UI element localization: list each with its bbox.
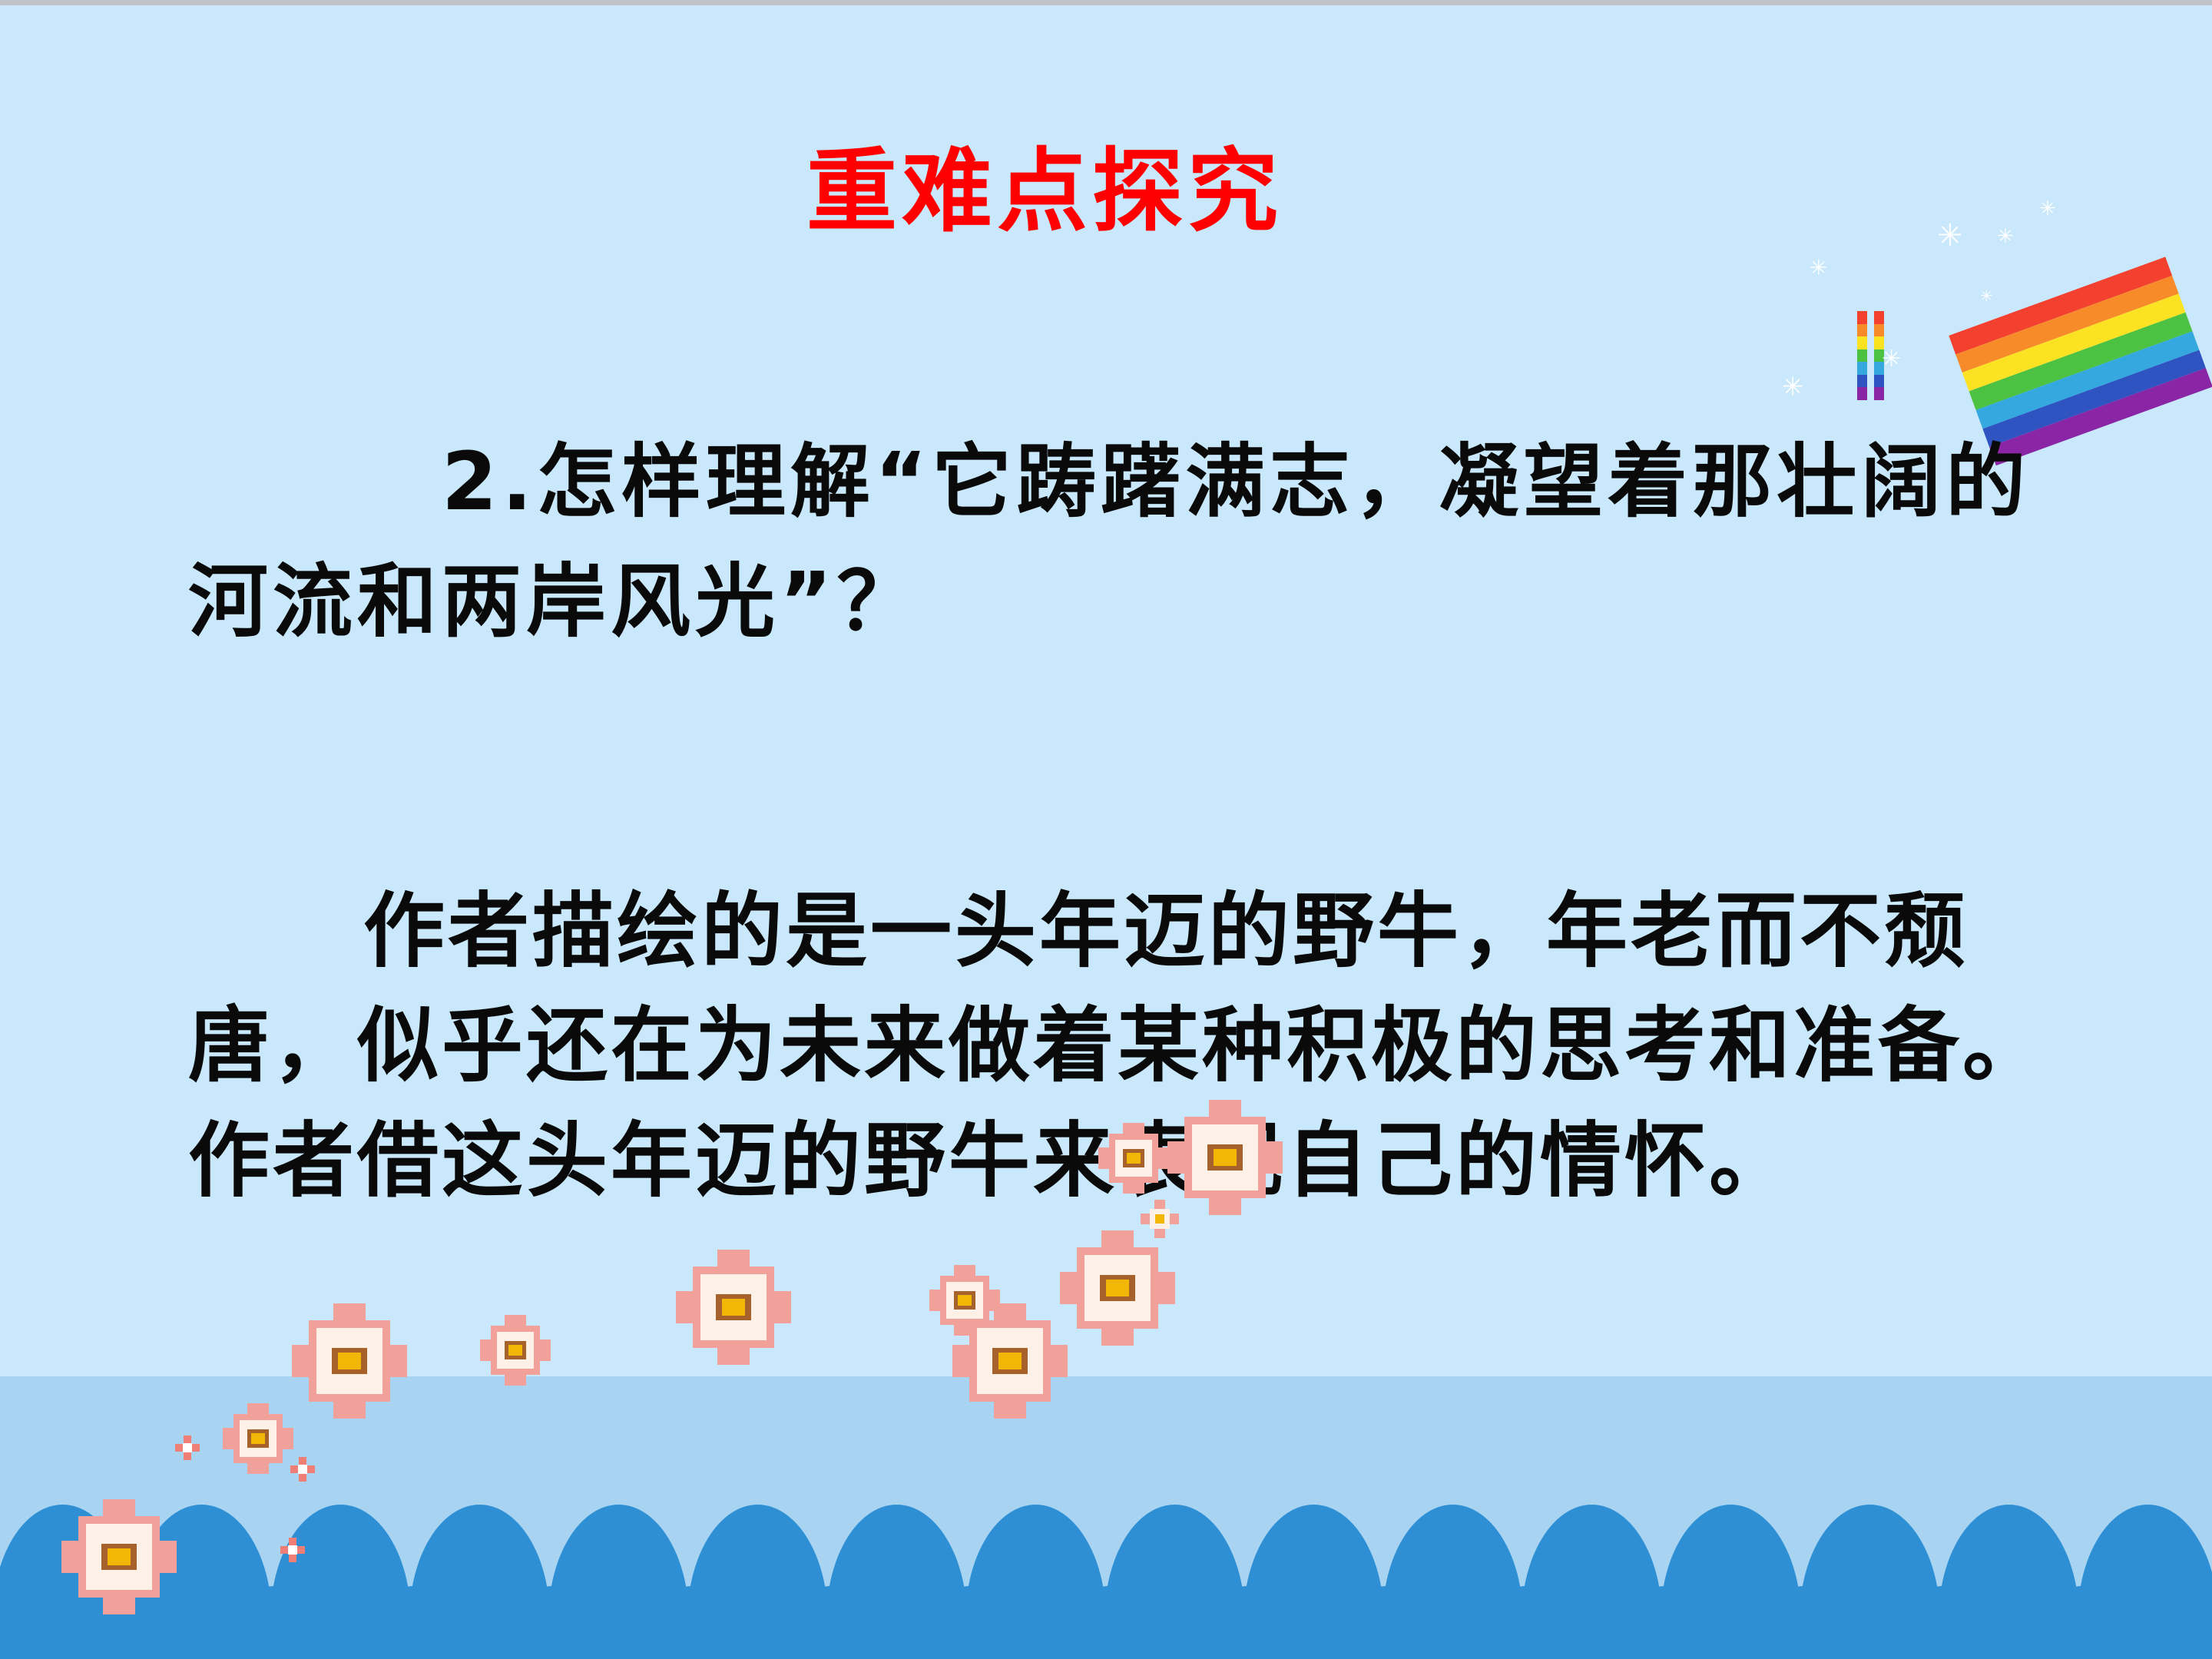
scallop-shape bbox=[622, 1586, 763, 1659]
scallop-shape bbox=[2012, 1586, 2153, 1659]
rainbow-bar-icon bbox=[1857, 311, 1867, 400]
cherry-blossom-icon bbox=[175, 1435, 200, 1460]
scallop-shape bbox=[900, 1586, 1041, 1659]
scallop-shape bbox=[761, 1586, 902, 1659]
cherry-blossom-icon bbox=[61, 1499, 177, 1614]
sparkle-icon: ✳ bbox=[2039, 199, 2056, 219]
scallop-shape bbox=[1595, 1586, 1736, 1659]
scallop-shape bbox=[0, 1586, 68, 1659]
scallop-row-bottom bbox=[0, 1586, 2200, 1659]
cherry-blossom-icon bbox=[676, 1250, 791, 1365]
cherry-blossom-icon bbox=[223, 1403, 293, 1474]
sparkle-icon: ✳ bbox=[1937, 220, 1963, 251]
scallop-shape bbox=[1039, 1586, 1180, 1659]
scallop-shape bbox=[1456, 1586, 1597, 1659]
cherry-blossom-icon bbox=[1060, 1230, 1175, 1346]
scallop-shape bbox=[1873, 1586, 2014, 1659]
sparkle-icon: ✳ bbox=[1782, 374, 1804, 400]
question-text: 2.怎样理解“它踌躇满志，凝望着那壮阔的河流和两岸风光”？ bbox=[188, 422, 2047, 661]
scallop-shape bbox=[483, 1586, 624, 1659]
scallop-shape bbox=[1178, 1586, 1319, 1659]
cherry-blossom-icon bbox=[290, 1457, 315, 1482]
scallop-shape bbox=[344, 1586, 485, 1659]
cherry-blossom-icon bbox=[480, 1315, 551, 1386]
rainbow-decoration-group: ✳ ✳ ✳ ✳ ✳ ✳ ✳ bbox=[1767, 197, 2197, 420]
cherry-blossom-icon bbox=[1167, 1100, 1283, 1215]
scallop-shape bbox=[1317, 1586, 1458, 1659]
sparkle-icon: ✳ bbox=[1997, 227, 2014, 247]
cherry-blossom-icon bbox=[280, 1538, 305, 1562]
slide-canvas: 重难点探究 ✳ ✳ ✳ ✳ ✳ ✳ ✳ 2.怎样理解“它踌躇满志，凝望着那壮阔的… bbox=[0, 0, 2212, 1659]
cherry-blossom-icon bbox=[292, 1303, 407, 1419]
sparkle-icon: ✳ bbox=[1810, 257, 1827, 279]
sparkle-icon: ✳ bbox=[1882, 348, 1901, 371]
cherry-blossom-icon bbox=[952, 1303, 1068, 1419]
scallop-shape bbox=[205, 1586, 346, 1659]
scallop-shape bbox=[1734, 1586, 1875, 1659]
sparkle-icon: ✳ bbox=[1980, 288, 1993, 303]
cherry-blossom-icon bbox=[1098, 1123, 1169, 1194]
